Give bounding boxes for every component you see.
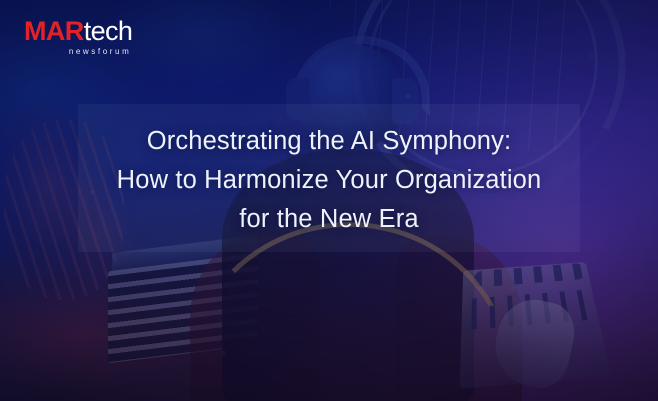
logo-word-mar: MAR bbox=[24, 16, 84, 46]
logo-word-tech: tech bbox=[84, 16, 133, 46]
headline: Orchestrating the AI Symphony: How to Ha… bbox=[0, 122, 658, 239]
logo-wordmark: MARtech bbox=[24, 18, 132, 45]
promo-banner: MARtech newsforum Orchestrating the AI S… bbox=[0, 0, 658, 401]
logo-tagline: newsforum bbox=[24, 48, 132, 56]
headline-line-2: How to Harmonize Your Organization bbox=[0, 161, 658, 200]
martech-logo[interactable]: MARtech newsforum bbox=[24, 18, 132, 56]
headphone-right-cup-shape bbox=[392, 78, 418, 124]
headphone-left-cup-shape bbox=[286, 78, 310, 120]
headline-line-3: for the New Era bbox=[0, 200, 658, 239]
headline-line-1: Orchestrating the AI Symphony: bbox=[0, 122, 658, 161]
